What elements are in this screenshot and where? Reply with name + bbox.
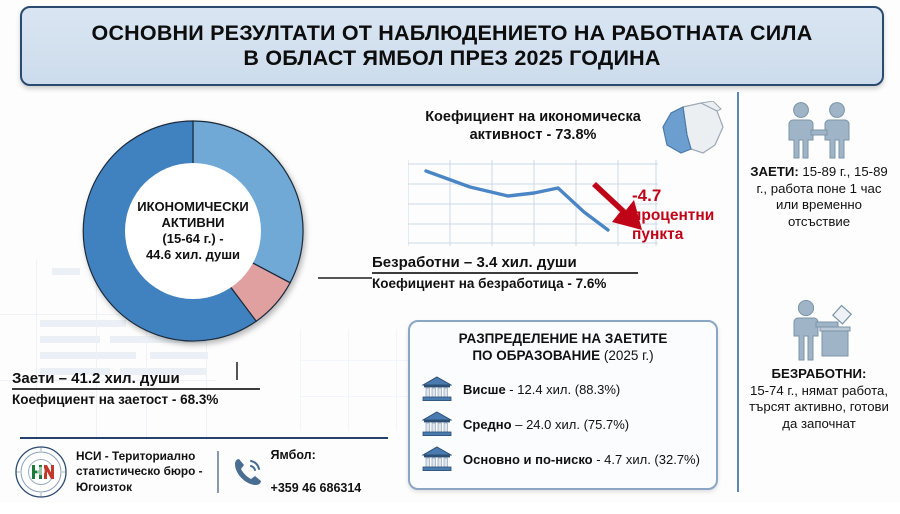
education-row-level: Средно [463, 417, 512, 432]
person-at-desk-icon-wrap [744, 300, 894, 362]
education-row-sep: - [593, 452, 605, 467]
sidebar-employed-definition: ЗАЕТИ: 15-89 г., 15-89 г., работа поне 1… [744, 98, 894, 231]
employed-main-label: Заети – 41.2 хил. души [12, 370, 260, 387]
education-rows: Висше - 12.4 хил. (88.3%) Средно – 24.0 … [410, 372, 716, 477]
activity-chart-title: Коефициент на икономическа активност - 7… [408, 108, 658, 144]
education-row: Средно – 24.0 хил. (75.7%) [410, 407, 716, 442]
education-row-value: 4.7 хил. (32.7%) [604, 452, 700, 467]
delta-unit-line1: процентни [632, 207, 714, 226]
page-title: ОСНОВНИ РЕЗУЛТАТИ ОТ НАБЛЮДЕНИЕТО НА РАБ… [92, 21, 813, 72]
education-row-value: 12.4 хил. (88.3%) [517, 382, 620, 397]
contact-phone-number: +359 46 686314 [271, 480, 362, 497]
donut-center-line4: 44.6 хил. души [146, 247, 240, 263]
sidebar-employed-heading: ЗАЕТИ: [750, 164, 799, 179]
donut-center-line2: АКТИВНИ [161, 215, 224, 231]
education-row: Висше - 12.4 хил. (88.3%) [410, 372, 716, 407]
donut-center-label: ИКОНОМИЧЕСКИ АКТИВНИ (15-64 г.) - 44.6 х… [125, 163, 261, 299]
education-row-text: Висше - 12.4 хил. (88.3%) [463, 382, 620, 397]
activity-chart-title-line1: Коефициент на икономическа [408, 108, 658, 126]
unemployed-label-rule [372, 272, 638, 274]
education-row-text: Основно и по-ниско - 4.7 хил. (32.7%) [463, 452, 700, 467]
activity-line-series [426, 171, 608, 230]
education-heading-line1: РАЗПРЕДЕЛЕНИЕ НА ЗАЕТИТЕ [410, 331, 716, 348]
person-at-desk-icon [780, 300, 858, 362]
education-row-sep: – [512, 417, 526, 432]
unemployed-main-label: Безработни – 3.4 хил. души [372, 254, 638, 271]
sidebar-employed-text: ЗАЕТИ: 15-89 г., 15-89 г., работа поне 1… [744, 164, 894, 231]
education-row-value: 24.0 хил. (75.7%) [526, 417, 629, 432]
donut-center-line3: (15-64 г.) - [162, 231, 223, 247]
organization-name: НСИ - Териториално статистическо бюро - … [76, 449, 203, 495]
unemployed-rate-label: Коефициент на безработица - 7.6% [372, 276, 638, 291]
sidebar-unemployed-definition: БЕЗРАБОТНИ:15-74 г., нямат работа, търся… [744, 300, 894, 433]
education-row-level: Висше [463, 382, 506, 397]
sidebar-unemployed-body: 15-74 г., нямат работа, търсят активно, … [749, 383, 889, 431]
donut-center-line1: ИКОНОМИЧЕСКИ [137, 199, 249, 215]
employed-label-rule [12, 388, 260, 390]
leader-line-unemployed [318, 277, 372, 279]
sidebar-divider [737, 92, 739, 492]
map-svg [657, 101, 729, 159]
bank-icon [422, 411, 452, 437]
nsi-logo [14, 445, 68, 499]
education-distribution-panel: РАЗПРЕДЕЛЕНИЕ НА ЗАЕТИТЕ ПО ОБРАЗОВАНИЕ … [408, 320, 718, 490]
contact-info: Ямбол: +359 46 686314 [271, 430, 362, 514]
bank-icon [422, 376, 452, 402]
education-row-text: Средно – 24.0 хил. (75.7%) [463, 417, 629, 432]
contact-city: Ямбол: [271, 447, 362, 464]
education-heading-line2: ПО ОБРАЗОВАНИЕ (2025 г.) [410, 348, 716, 365]
handshake-people-icon-wrap [744, 98, 894, 160]
infographic-canvas: ОСНОВНИ РЕЗУЛТАТИ ОТ НАБЛЮДЕНИЕТО НА РАБ… [0, 0, 900, 503]
background-watermark-right [300, 330, 420, 440]
footer: НСИ - Териториално статистическо бюро - … [14, 446, 434, 498]
activity-chart-title-line2: активност - 73.8% [408, 126, 658, 144]
sidebar-unemployed-text: БЕЗРАБОТНИ:15-74 г., нямат работа, търся… [744, 366, 894, 433]
delta-unit-line2: пункта [632, 226, 714, 245]
nsi-logo-svg [14, 445, 68, 499]
delta-value: -4.7 [632, 186, 714, 207]
education-row-level: Основно и по-ниско [463, 452, 593, 467]
education-row-sep: - [506, 382, 518, 397]
employed-rate-label: Коефициент на заетост - 68.3% [12, 392, 260, 407]
education-heading-year: (2025 г.) [604, 348, 654, 363]
employed-label-group: Заети – 41.2 хил. души Коефициент на зае… [12, 370, 260, 407]
donut-chart: ИКОНОМИЧЕСКИ АКТИВНИ (15-64 г.) - 44.6 х… [68, 106, 318, 356]
education-row: Основно и по-ниско - 4.7 хил. (32.7%) [410, 442, 716, 477]
page-title-bar: ОСНОВНИ РЕЗУЛТАТИ ОТ НАБЛЮДЕНИЕТО НА РАБ… [20, 6, 884, 86]
phone-icon [231, 455, 265, 489]
handshake-people-icon [773, 102, 865, 160]
region-map-icon [657, 101, 729, 159]
sidebar-unemployed-heading: БЕЗРАБОТНИ: [772, 366, 867, 381]
footer-inner-divider [217, 451, 219, 493]
delta-callout: -4.7 процентни пункта [632, 186, 714, 245]
education-panel-heading: РАЗПРЕДЕЛЕНИЕ НА ЗАЕТИТЕ ПО ОБРАЗОВАНИЕ … [410, 322, 716, 365]
education-heading-line2-text: ПО ОБРАЗОВАНИЕ [472, 348, 600, 363]
unemployed-label-group: Безработни – 3.4 хил. души Коефициент на… [372, 254, 638, 291]
